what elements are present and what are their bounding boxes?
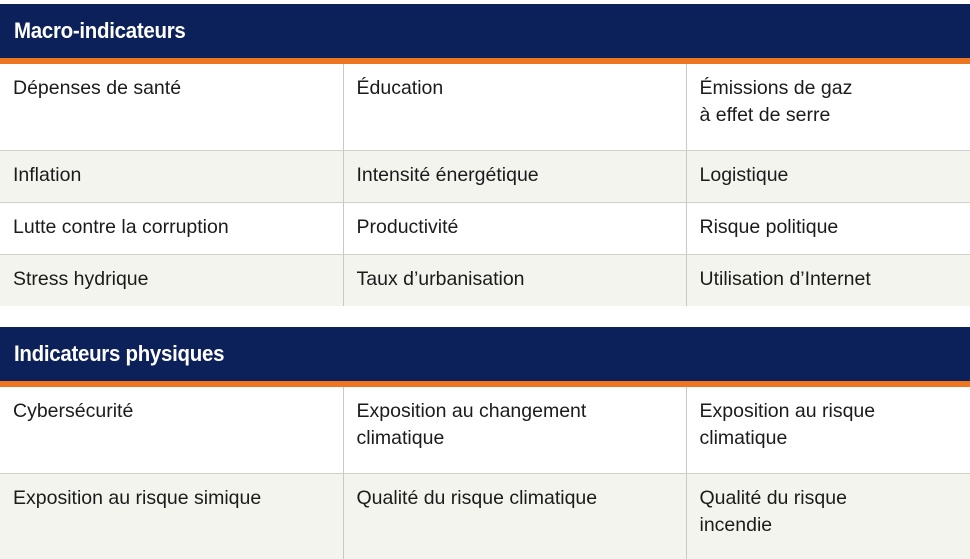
cell-risque-politique: Risque politique [686,202,970,254]
table-row: Cybersécurité Exposition au changement c… [0,387,970,473]
section-header-macro-indicateurs: Macro-indicateurs [0,4,970,58]
cell-logistique: Logistique [686,150,970,202]
table-row: Stress hydrique Taux d’urbanisation Util… [0,254,970,306]
cell-education: Éducation [343,64,686,150]
cell-stress-hydrique: Stress hydrique [0,254,343,306]
cell-depenses-de-sante: Dépenses de santé [0,64,343,150]
table-row: Lutte contre la corruption Productivité … [0,202,970,254]
table-row: Inflation Intensité énergétique Logistiq… [0,150,970,202]
section-title-indicateurs-physiques: Indicateurs physiques [14,343,224,365]
cell-taux-d-urbanisation: Taux d’urbanisation [343,254,686,306]
cell-cybersecurite: Cybersécurité [0,387,343,473]
section-indicateurs-physiques: Indicateurs physiques Cybersécurité Expo… [0,327,970,559]
table-row: Dépenses de santé Éducation Émissions de… [0,64,970,150]
cell-productivite: Productivité [343,202,686,254]
indicators-tables-page: Macro-indicateurs Dépenses de santé Éduc… [0,0,970,555]
cell-exposition-au-risque-simique: Exposition au risque simique [0,473,343,559]
table-row: Exposition au risque simique Qualité du … [0,473,970,559]
cell-exposition-au-changement-climatique: Exposition au changement climatique [343,387,686,473]
cell-exposition-au-risque-climatique: Exposition au risque climatique [686,387,970,473]
section-header-indicateurs-physiques: Indicateurs physiques [0,327,970,381]
table-macro-indicateurs: Dépenses de santé Éducation Émissions de… [0,64,970,306]
section-macro-indicateurs: Macro-indicateurs Dépenses de santé Éduc… [0,4,970,306]
cell-inflation: Inflation [0,150,343,202]
cell-intensite-energetique: Intensité énergétique [343,150,686,202]
section-title-macro-indicateurs: Macro-indicateurs [14,20,185,42]
cell-lutte-contre-la-corruption: Lutte contre la corruption [0,202,343,254]
cell-emissions-de-gaz: Émissions de gaz à effet de serre [686,64,970,150]
cell-qualite-du-risque-incendie: Qualité du risque incendie [686,473,970,559]
table-indicateurs-physiques: Cybersécurité Exposition au changement c… [0,387,970,559]
cell-qualite-du-risque-climatique: Qualité du risque climatique [343,473,686,559]
cell-utilisation-d-internet: Utilisation d’Internet [686,254,970,306]
